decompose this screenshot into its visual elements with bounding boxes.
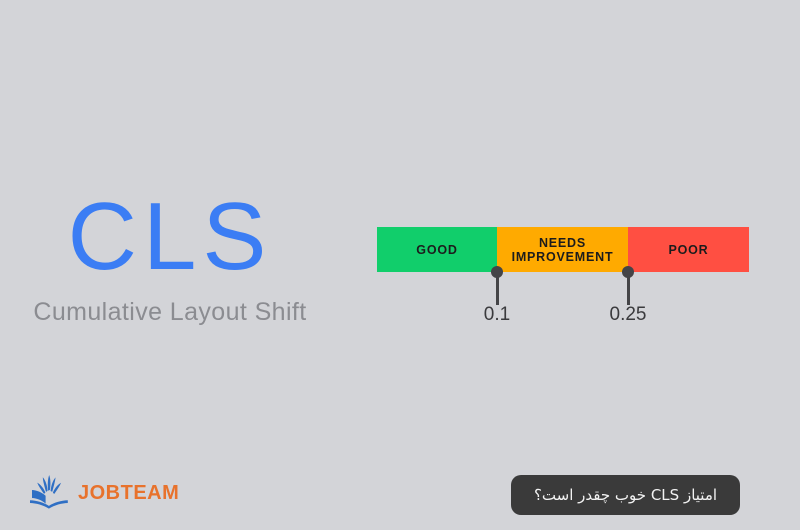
gauge-segment-needs-improvement: NEEDS IMPROVEMENT bbox=[497, 227, 628, 272]
gauge-segment-needs-improvement-label: NEEDS IMPROVEMENT bbox=[512, 236, 614, 264]
gauge-bar: GOOD NEEDS IMPROVEMENT POOR bbox=[377, 227, 749, 272]
open-book-icon bbox=[26, 470, 72, 516]
caption-badge: امتیاز CLS خوب چقدر است؟ bbox=[511, 475, 740, 515]
threshold-line bbox=[627, 275, 630, 305]
jobteam-logo: JOBTEAM bbox=[26, 470, 179, 516]
gauge-segment-needs-improvement-label-line1: NEEDS bbox=[512, 236, 614, 250]
slide-canvas: CLS Cumulative Layout Shift GOOD NEEDS I… bbox=[0, 0, 800, 530]
metric-full-name: Cumulative Layout Shift bbox=[0, 297, 340, 327]
caption-text: امتیاز CLS خوب چقدر است؟ bbox=[534, 485, 717, 505]
jobteam-logo-text: JOBTEAM bbox=[78, 482, 179, 505]
gauge-segment-poor-label: POOR bbox=[668, 243, 708, 257]
threshold-value-label: 0.25 bbox=[588, 304, 668, 326]
metric-acronym: CLS bbox=[0, 185, 340, 289]
threshold-value-label: 0.1 bbox=[457, 304, 537, 326]
threshold-line bbox=[496, 275, 499, 305]
gauge-segment-good: GOOD bbox=[377, 227, 497, 272]
gauge-segment-needs-improvement-label-line2: IMPROVEMENT bbox=[512, 250, 614, 264]
cls-threshold-gauge: GOOD NEEDS IMPROVEMENT POOR 0.1 0.25 bbox=[377, 227, 749, 272]
gauge-segment-good-label: GOOD bbox=[416, 243, 457, 257]
metric-title-block: CLS Cumulative Layout Shift bbox=[0, 185, 340, 327]
gauge-segment-poor: POOR bbox=[628, 227, 749, 272]
